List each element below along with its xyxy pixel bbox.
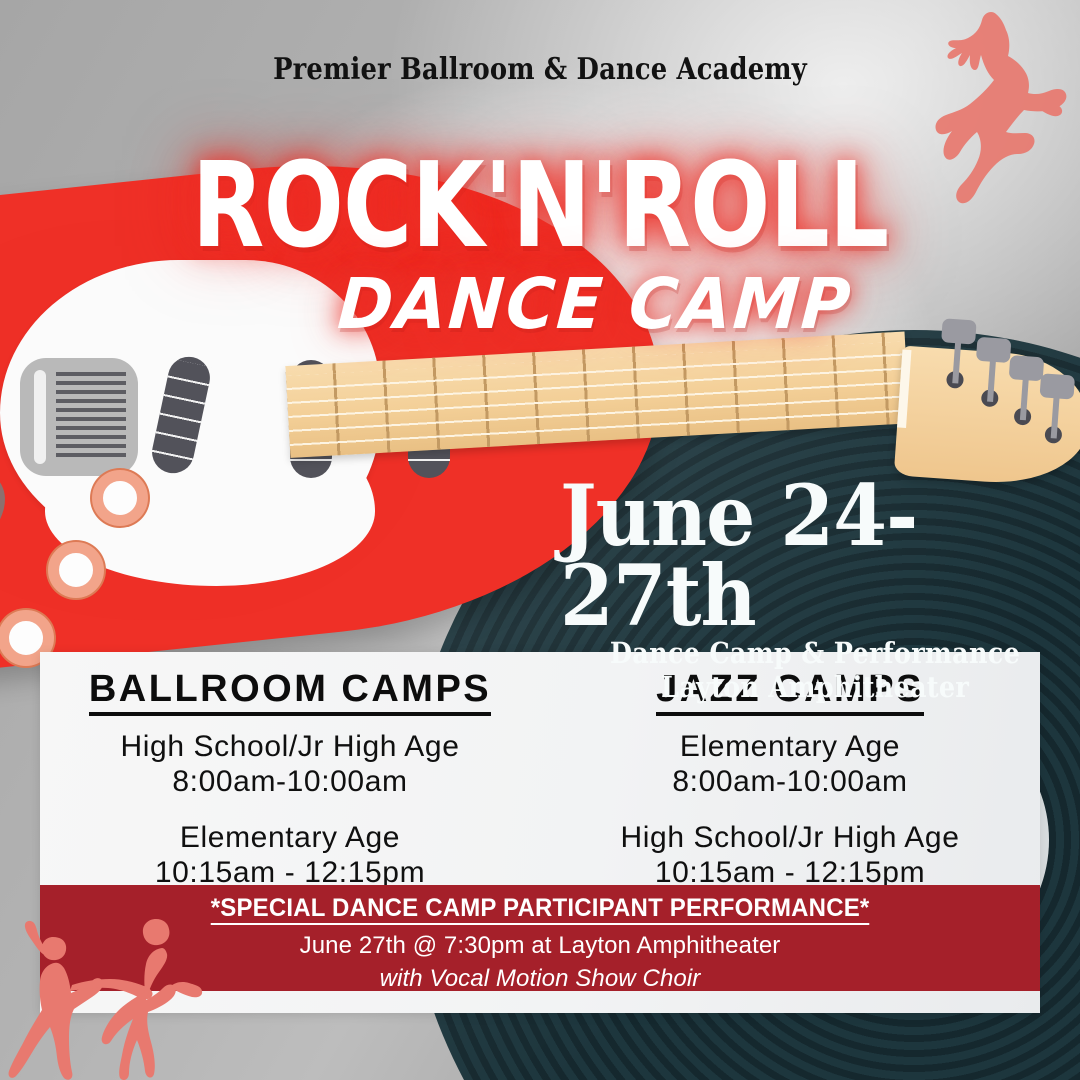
date-subtitle-1: Dance Camp & Performance bbox=[591, 636, 1040, 670]
jazz-group-1-age: Elementary Age bbox=[540, 729, 1040, 764]
poster-title: ROCK'N'ROLL DANCE CAMP bbox=[0, 150, 1080, 345]
jazz-group-2-age: High School/Jr High Age bbox=[540, 820, 1040, 855]
jazz-group-1: Elementary Age 8:00am-10:00am bbox=[540, 729, 1040, 800]
guitar-bridge bbox=[20, 358, 138, 476]
ballroom-group-1-time: 8:00am-10:00am bbox=[40, 764, 540, 799]
jazz-group-1-time: 8:00am-10:00am bbox=[540, 764, 1040, 799]
title-rock-n-roll: ROCK'N'ROLL bbox=[108, 150, 972, 261]
tuning-machine-3 bbox=[1009, 355, 1045, 381]
guitar-knob-tone-1 bbox=[48, 542, 104, 598]
swing-dance-couple-icon bbox=[4, 915, 229, 1080]
tuning-machine-4 bbox=[1039, 373, 1075, 399]
date-block: June 24-27th Dance Camp & Performance La… bbox=[560, 476, 1070, 704]
date-subtitle-2: Layton Amphitheater bbox=[591, 670, 1040, 704]
academy-name: Premier Ballroom & Dance Academy bbox=[76, 52, 1005, 87]
ballroom-group-2-age: Elementary Age bbox=[40, 820, 540, 855]
banner-headline: *SPECIAL DANCE CAMP PARTICIPANT PERFORMA… bbox=[211, 894, 870, 925]
poster-canvas: BALLROOM CAMPS High School/Jr High Age 8… bbox=[0, 0, 1080, 1080]
guitar-headstock bbox=[894, 346, 1080, 489]
ballroom-group-2: Elementary Age 10:15am - 12:15pm bbox=[40, 820, 540, 891]
bridge-saddle bbox=[34, 370, 46, 464]
jazz-group-2: High School/Jr High Age 10:15am - 12:15p… bbox=[540, 820, 1040, 891]
guitar-knob-volume bbox=[92, 470, 148, 526]
camp-column-ballroom: BALLROOM CAMPS High School/Jr High Age 8… bbox=[40, 652, 540, 885]
title-dance-camp: DANCE CAMP bbox=[79, 263, 1080, 345]
ballroom-group-1-age: High School/Jr High Age bbox=[40, 729, 540, 764]
ballroom-camps-heading: BALLROOM CAMPS bbox=[89, 668, 491, 716]
ballroom-group-1: High School/Jr High Age 8:00am-10:00am bbox=[40, 729, 540, 800]
date-range: June 24-27th bbox=[560, 476, 1029, 636]
bridge-lines bbox=[56, 372, 126, 462]
